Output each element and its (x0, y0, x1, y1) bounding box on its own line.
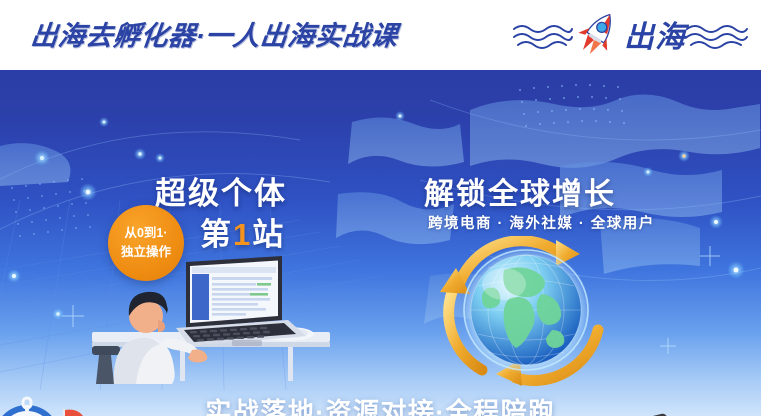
station-number: 1 (233, 217, 252, 252)
headline-unlock-growth: 解锁全球增长 (424, 169, 616, 213)
promo-banner: 出海去孵化器·一人出海实战课 (0, 0, 761, 416)
badge-line-1: 从0到1· (124, 224, 167, 243)
wave-lines-icon-right (685, 23, 749, 51)
wave-lines-icon (512, 23, 574, 51)
flag-icon (58, 406, 88, 416)
logo-text: 出海 (624, 12, 686, 56)
header-title: 出海去孵化器·一人出海实战课 (29, 14, 400, 53)
globe-with-arrows-illustration (430, 236, 626, 388)
rocket-icon (574, 9, 620, 61)
badge-line-2: 独立操作 (121, 243, 171, 262)
headline-super-individual: 超级个体 (155, 168, 287, 213)
headline-first-station: 第1站 (200, 209, 285, 254)
zero-to-one-badge: 从0到1· 独立操作 (108, 205, 184, 281)
banner-body: 超级个体 第1站 从0到1· 独立操作 解锁全球增长 跨境电商 · 海外社媒 ·… (0, 70, 761, 416)
footer-headline-primary: 实战落地·资源对接·全程陪跑 (205, 392, 555, 416)
suitcase-icon (627, 408, 699, 416)
station-prefix: 第 (200, 217, 233, 252)
laptop-icon (176, 256, 306, 346)
brand-logo: 出海 (512, 7, 748, 63)
banner-header: 出海去孵化器·一人出海实战课 (0, 0, 761, 70)
station-suffix: 站 (252, 217, 285, 252)
subheadline-channels: 跨境电商 · 海外社媒 · 全球用户 (428, 212, 655, 233)
